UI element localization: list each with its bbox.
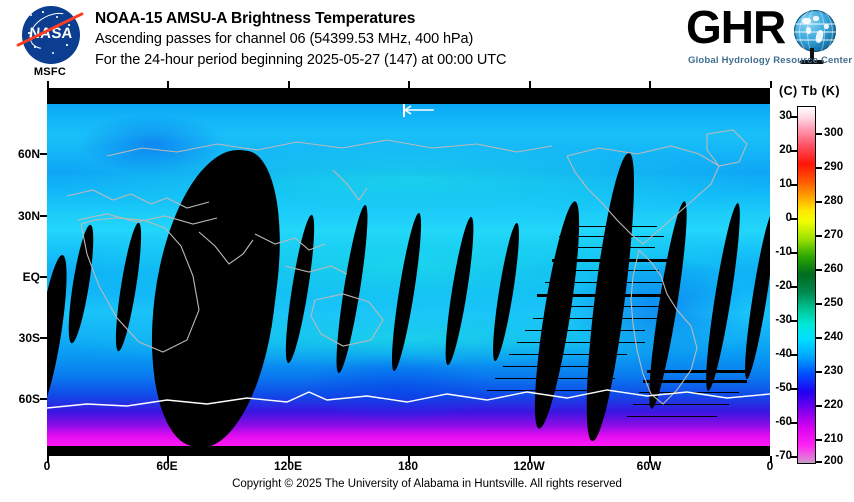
colorbar-k-tick-270: 270 bbox=[824, 229, 843, 241]
colorbar-c-tick-m40: -40 bbox=[758, 348, 792, 360]
colorbar-k-tick-250: 250 bbox=[824, 297, 843, 309]
page-title: NOAA-15 AMSU-A Brightness Temperatures bbox=[95, 8, 506, 29]
title-block: NOAA-15 AMSU-A Brightness Temperatures A… bbox=[95, 8, 506, 71]
nasa-meatball-icon: NASA bbox=[22, 6, 80, 64]
page-subtitle-period: For the 24-hour period beginning 2025-05… bbox=[95, 50, 506, 71]
copyright-footer: Copyright © 2025 The University of Alaba… bbox=[0, 478, 854, 490]
colorbar-c-tick-10: 10 bbox=[758, 178, 792, 190]
colorbar-c-tick-30: 30 bbox=[758, 110, 792, 122]
page-subtitle-channel: Ascending passes for channel 06 (54399.5… bbox=[95, 29, 506, 50]
brightness-temperature-heatmap[interactable] bbox=[47, 104, 770, 446]
colorbar-header: (C) Tb (K) bbox=[779, 84, 840, 98]
page-header: NASA MSFC NOAA-15 AMSU-A Brightness Temp… bbox=[0, 0, 854, 86]
colorbar-k-tick-300: 300 bbox=[824, 127, 843, 139]
map-top-margin bbox=[47, 88, 770, 104]
colorbar-c-tick-m60: -60 bbox=[758, 416, 792, 428]
nasa-center-label: MSFC bbox=[12, 66, 88, 78]
map-panel[interactable] bbox=[47, 88, 770, 456]
coastline-overlay bbox=[47, 104, 770, 446]
ghrc-wordmark: GHR bbox=[686, 4, 785, 50]
colorbar-k-tick-220: 220 bbox=[824, 399, 843, 411]
lat-label-30n: 30N bbox=[0, 209, 40, 223]
lat-label-30s: 30S bbox=[0, 331, 40, 345]
ghrc-subtitle: Global Hydrology Resource Center bbox=[688, 55, 852, 66]
colorbar-c-tick-m10: -10 bbox=[758, 246, 792, 258]
colorbar-k-tick-280: 280 bbox=[824, 195, 843, 207]
lat-label-60n: 60N bbox=[0, 147, 40, 161]
map-bottom-margin bbox=[47, 446, 770, 456]
lat-label-eq: EQ bbox=[0, 270, 40, 284]
colorbar-c-tick-20: 20 bbox=[758, 144, 792, 156]
lat-label-60s: 60S bbox=[0, 392, 40, 406]
colorbar-c-tick-0: 0 bbox=[758, 212, 792, 224]
globe-icon bbox=[794, 10, 836, 52]
colorbar-c-tick-m20: -20 bbox=[758, 280, 792, 292]
cursor-marker-icon bbox=[402, 104, 436, 118]
colorbar-k-tick-240: 240 bbox=[824, 331, 843, 343]
colorbar-k-tick-260: 260 bbox=[824, 263, 843, 275]
nasa-logo: NASA MSFC bbox=[12, 4, 88, 82]
colorbar-k-tick-230: 230 bbox=[824, 365, 843, 377]
ghrc-logo: GHR Global Hydrology Resource Center bbox=[686, 4, 848, 76]
colorbar-c-tick-m50: -50 bbox=[758, 382, 792, 394]
colorbar-k-tick-290: 290 bbox=[824, 161, 843, 173]
colorbar-gradient bbox=[797, 106, 816, 464]
colorbar-k-tick-210: 210 bbox=[824, 433, 843, 445]
colorbar-k-tick-200: 200 bbox=[824, 455, 843, 467]
colorbar-c-tick-m30: -30 bbox=[758, 314, 792, 326]
